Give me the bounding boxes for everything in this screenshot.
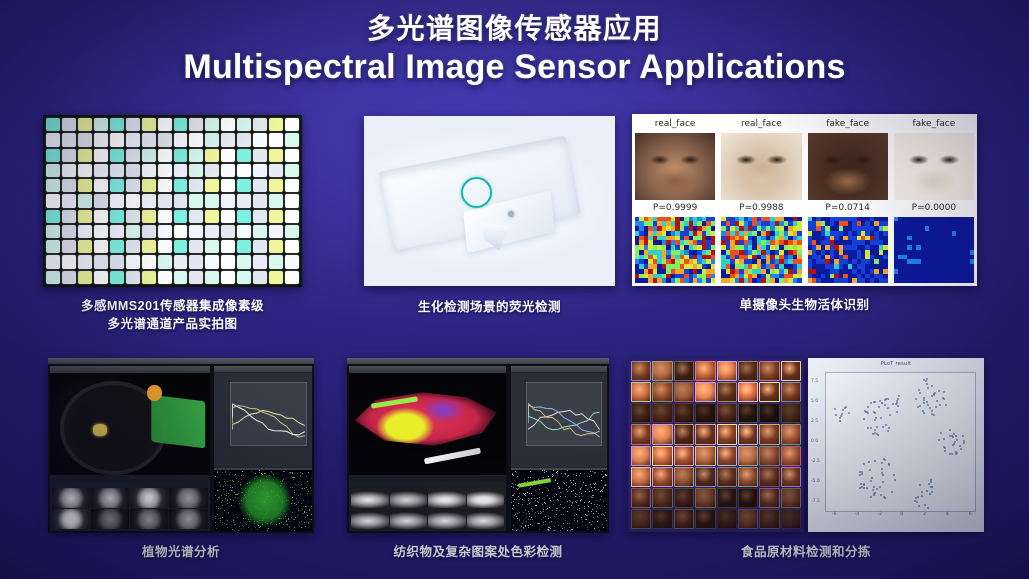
- classification-pixel: [216, 506, 217, 507]
- classification-pixel: [536, 505, 537, 506]
- scatter-point: [876, 488, 878, 490]
- classification-pixel: [255, 527, 256, 528]
- filter-pixel: [62, 194, 76, 207]
- filter-pixel: [46, 149, 60, 162]
- filter-pixel: [174, 255, 188, 268]
- subway-logo: [151, 394, 205, 448]
- classification-pixel: [525, 493, 526, 494]
- classification-pixel: [240, 522, 241, 523]
- filter-pixel: [253, 118, 267, 131]
- classification-pixel: [260, 527, 261, 528]
- scatter-point: [929, 493, 931, 495]
- classification-pixel: [544, 472, 545, 473]
- classification-pixel: [305, 526, 306, 527]
- classification-pixel: [595, 482, 596, 483]
- classification-pixel: [545, 516, 546, 517]
- classification-pixel: [551, 521, 552, 522]
- classification-pixel: [312, 530, 313, 531]
- classification-pixel: [537, 511, 538, 512]
- classification-pixel: [271, 529, 272, 530]
- scatter-point: [926, 490, 928, 492]
- scatter-point: [922, 410, 924, 412]
- classification-pixel: [300, 475, 301, 476]
- filter-pixel: [126, 118, 140, 131]
- filter-pixel: [269, 225, 283, 238]
- scatter-point: [963, 442, 965, 444]
- scatter-point: [870, 402, 872, 404]
- scatter-point: [859, 487, 861, 489]
- filter-pixel: [285, 210, 299, 223]
- plant-software-screenshot: [48, 358, 314, 533]
- classification-pixel: [303, 506, 304, 507]
- filter-pixel: [78, 133, 92, 146]
- classification-pixel: [605, 474, 606, 475]
- classification-pixel: [225, 498, 226, 499]
- food-sample-thumbnail: [759, 424, 779, 444]
- classification-pixel: [582, 521, 583, 522]
- x-axis-tick: 0: [900, 512, 903, 517]
- classification-pixel: [581, 493, 582, 494]
- classification-pixel: [600, 491, 601, 492]
- filter-pixel: [205, 240, 219, 253]
- classification-pixel: [294, 503, 295, 504]
- classification-pixel: [259, 470, 260, 471]
- scatter-point: [927, 404, 929, 406]
- classification-pixel: [223, 489, 224, 490]
- classification-pixel: [539, 523, 540, 524]
- classification-pixel: [590, 484, 591, 485]
- classification-pixel: [296, 485, 297, 486]
- scatter-point: [874, 492, 876, 494]
- classification-pixel: [292, 512, 293, 513]
- food-sample-thumbnail: [781, 509, 801, 529]
- classification-pixel: [579, 475, 580, 476]
- classification-pixel: [576, 514, 577, 515]
- filter-pixel: [126, 133, 140, 146]
- scatter-point: [893, 474, 895, 476]
- scatter-point: [921, 495, 923, 497]
- classification-pixel: [571, 505, 572, 506]
- filter-pixel: [126, 149, 140, 162]
- classification-pixel: [518, 503, 519, 504]
- classification-pixel: [512, 508, 513, 509]
- scatter-point: [839, 417, 841, 419]
- classification-pixel: [539, 497, 540, 498]
- classification-pixel: [301, 527, 302, 528]
- classification-pixel: [224, 479, 225, 480]
- pixel-filter-grid: [43, 115, 302, 287]
- camera-pane: [50, 366, 210, 531]
- food-sample-thumbnail: [738, 446, 758, 466]
- classification-pixel: [294, 492, 295, 493]
- classification-pixel: [306, 522, 307, 523]
- filter-pixel: [62, 271, 76, 284]
- band-thumbnail: [52, 488, 90, 508]
- reference-strip: [424, 447, 481, 464]
- filter-pixel: [253, 210, 267, 223]
- spectrum-curves: [527, 383, 601, 445]
- classification-pixel: [554, 526, 555, 527]
- filter-pixel: [158, 179, 172, 192]
- scatter-point: [936, 400, 938, 402]
- classification-pixel: [553, 500, 554, 501]
- classification-pixel: [554, 488, 555, 489]
- classification-pixel: [584, 473, 585, 474]
- classification-pixel: [517, 513, 518, 514]
- classification-pixel: [519, 512, 520, 513]
- food-sample-thumbnail: [674, 446, 694, 466]
- filter-pixel: [158, 149, 172, 162]
- classification-pixel: [526, 521, 527, 522]
- classification-pixel: [259, 527, 260, 528]
- classification-pixel: [527, 504, 528, 505]
- filter-pixel: [237, 240, 251, 253]
- classification-pixel: [594, 473, 595, 474]
- page-title-english: Multispectral Image Sensor Applications: [0, 50, 1029, 86]
- scatter-point: [881, 402, 883, 404]
- classification-pixel: [296, 494, 297, 495]
- classification-pixel: [525, 509, 526, 510]
- food-sample-thumbnail: [674, 424, 694, 444]
- classification-pixel: [591, 524, 592, 525]
- classification-pixel: [586, 515, 587, 516]
- filter-pixel: [126, 255, 140, 268]
- classification-pixel: [294, 519, 295, 520]
- food-sample-thumbnail: [652, 424, 672, 444]
- classification-pixel: [227, 481, 228, 482]
- scatter-point: [869, 469, 871, 471]
- food-sample-thumbnail: [695, 509, 715, 529]
- filter-pixel: [205, 194, 219, 207]
- filter-pixel: [221, 149, 235, 162]
- caption-line-1: 多感MMS201传感器集成像素级: [43, 297, 302, 315]
- filter-pixel: [174, 210, 188, 223]
- food-sample-thumbnail: [695, 424, 715, 444]
- filter-pixel: [174, 271, 188, 284]
- filter-pixel: [205, 255, 219, 268]
- classification-pixel: [215, 518, 216, 519]
- classification-pixel: [222, 505, 223, 506]
- classification-pixel: [235, 474, 236, 475]
- classification-pixel: [519, 499, 520, 500]
- food-thumbnail-image: [628, 358, 804, 532]
- classification-pixel: [519, 520, 520, 521]
- classification-pixel: [581, 487, 582, 488]
- classification-pixel: [306, 512, 307, 513]
- filter-pixel: [62, 164, 76, 177]
- page-title-chinese: 多光谱图像传感器应用: [0, 14, 1029, 45]
- scatter-point: [881, 468, 883, 470]
- food-sample-thumbnail: [652, 446, 672, 466]
- classification-pixel: [548, 518, 549, 519]
- classification-pixel: [589, 501, 590, 502]
- slide-title-block: 多光谱图像传感器应用 Multispectral Image Sensor Ap…: [0, 14, 1029, 85]
- classification-pixel: [603, 527, 604, 528]
- classification-pixel: [580, 500, 581, 501]
- classification-pixel: [218, 518, 219, 519]
- classification-pixel: [592, 521, 593, 522]
- filter-pixel: [221, 118, 235, 131]
- classification-pixel: [282, 527, 283, 528]
- classification-pixel: [306, 476, 307, 477]
- classification-pixel: [586, 519, 587, 520]
- classification-pixel: [220, 475, 221, 476]
- classification-pixel: [528, 500, 529, 501]
- classification-pixel: [248, 527, 249, 528]
- classification-pixel: [603, 514, 604, 515]
- band-thumbnail: [130, 509, 168, 529]
- scatter-point: [919, 484, 921, 486]
- classification-pixel: [224, 510, 225, 511]
- classification-pixel: [299, 485, 300, 486]
- food-sample-thumbnail: [781, 382, 801, 402]
- classification-pixel: [521, 530, 522, 531]
- classification-pixel: [554, 530, 555, 531]
- classification-pixel: [516, 530, 517, 531]
- classification-pixel: [221, 502, 222, 503]
- filter-pixel: [237, 225, 251, 238]
- food-sample-thumbnail: [631, 488, 651, 508]
- classification-pixel: [548, 490, 549, 491]
- filter-pixel: [142, 118, 156, 131]
- classification-pixel: [606, 475, 607, 476]
- band-thumbnail-grid: [349, 482, 506, 532]
- classification-pixel: [286, 521, 287, 522]
- scatter-point: [943, 391, 945, 393]
- filter-pixel: [189, 149, 203, 162]
- filter-pixel: [110, 164, 124, 177]
- classification-pixel: [304, 522, 305, 523]
- filter-pixel: [285, 271, 299, 284]
- classification-pixel: [226, 491, 227, 492]
- classification-pixel: [576, 496, 577, 497]
- face-thumbnail: [635, 133, 715, 200]
- classification-pixel: [219, 496, 220, 497]
- scatter-point: [896, 402, 898, 404]
- filter-pixel: [46, 225, 60, 238]
- classification-pixel: [251, 529, 252, 530]
- classification-pixel: [605, 512, 606, 513]
- filter-pixel: [269, 118, 283, 131]
- classification-pixel: [227, 520, 228, 521]
- filter-pixel: [237, 118, 251, 131]
- classification-pixel: [556, 510, 557, 511]
- classification-pixel: [542, 470, 543, 471]
- classification-pixel: [571, 482, 572, 483]
- scatter-point: [927, 387, 929, 389]
- classification-pixel: [233, 481, 234, 482]
- classification-pixel: [603, 501, 604, 502]
- classification-pixel: [546, 509, 547, 510]
- classification-pixel: [227, 500, 228, 501]
- classification-pixel: [577, 521, 578, 522]
- scatter-point: [923, 412, 925, 414]
- classification-pixel: [595, 472, 596, 473]
- face-heatmap: [894, 217, 974, 284]
- classification-pixel: [227, 527, 228, 528]
- scatter-point: [923, 399, 925, 401]
- filter-pixel: [62, 210, 76, 223]
- classification-pixel: [602, 471, 603, 472]
- filter-pixel: [158, 271, 172, 284]
- filter-pixel: [237, 271, 251, 284]
- classification-pixel: [578, 505, 579, 506]
- classification-pixel: [529, 488, 530, 489]
- food-sample-thumbnail: [781, 424, 801, 444]
- classification-pixel: [311, 508, 312, 509]
- classification-pixel: [532, 519, 533, 520]
- filter-pixel: [269, 240, 283, 253]
- classification-pixel: [518, 496, 519, 497]
- scatter-point: [931, 410, 933, 412]
- scatter-point: [928, 483, 930, 485]
- classification-pixel: [560, 504, 561, 505]
- classification-pixel: [290, 472, 291, 473]
- classification-pixel: [530, 477, 531, 478]
- filter-pixel: [189, 194, 203, 207]
- band-thumbnail-grid: [50, 482, 210, 532]
- classification-pixel: [606, 485, 607, 486]
- classification-pixel: [572, 503, 573, 504]
- food-sample-thumbnail: [674, 509, 694, 529]
- classification-pixel: [569, 527, 570, 528]
- x-axis-tick: 6: [969, 512, 972, 517]
- food-sample-thumbnail: [652, 382, 672, 402]
- classification-pixel: [217, 499, 218, 500]
- filter-pixel: [46, 271, 60, 284]
- classification-pixel: [528, 498, 529, 499]
- classification-pixel: [586, 485, 587, 486]
- filter-pixel: [46, 240, 60, 253]
- filter-pixel: [237, 164, 251, 177]
- classification-pixel: [575, 483, 576, 484]
- classification-pixel: [303, 513, 304, 514]
- band-thumbnail: [467, 488, 505, 508]
- scatter-point: [835, 414, 837, 416]
- classification-pixel: [567, 530, 568, 531]
- classification-result-view: [214, 470, 312, 531]
- filter-pixel: [46, 179, 60, 192]
- classification-pixel: [311, 506, 312, 507]
- food-sample-thumbnail: [781, 488, 801, 508]
- scatter-point: [873, 411, 875, 413]
- classification-pixel: [301, 484, 302, 485]
- filter-pixel: [126, 271, 140, 284]
- classification-pixel: [524, 494, 525, 495]
- band-thumbnail: [428, 509, 466, 529]
- classification-pixel: [292, 497, 293, 498]
- classification-pixel: [601, 496, 602, 497]
- classification-pixel: [575, 488, 576, 489]
- scatter-point: [918, 505, 920, 507]
- filter-pixel: [189, 133, 203, 146]
- classification-pixel: [596, 500, 597, 501]
- food-sample-thumbnail: [717, 509, 737, 529]
- y-axis-tick: 7.5: [811, 379, 818, 384]
- classification-pixel: [558, 525, 559, 526]
- classification-pixel: [230, 499, 231, 500]
- classification-pixel: [604, 506, 605, 507]
- classification-pixel: [234, 492, 235, 493]
- camera-toolbar: [349, 366, 506, 373]
- classification-pixel: [576, 475, 577, 476]
- scatter-point: [929, 407, 931, 409]
- classification-pixel: [597, 504, 598, 505]
- classification-pixel: [559, 488, 560, 489]
- filter-pixel: [205, 210, 219, 223]
- classification-pixel: [585, 491, 586, 492]
- classification-pixel: [311, 514, 312, 515]
- classification-pixel: [516, 516, 517, 517]
- analysis-pane: [511, 366, 607, 531]
- filter-pixel: [110, 210, 124, 223]
- classification-pixel: [272, 473, 273, 474]
- caption-line-2: 多光谱通道产品实拍图: [43, 315, 302, 333]
- classification-pixel: [215, 476, 216, 477]
- classification-pixel: [563, 523, 564, 524]
- filter-pixel: [269, 210, 283, 223]
- filter-pixel: [94, 210, 108, 223]
- filter-pixel: [221, 225, 235, 238]
- classification-pixel: [563, 514, 564, 515]
- scatter-point: [882, 481, 884, 483]
- classification-pixel: [553, 470, 554, 471]
- classification-pixel: [557, 475, 558, 476]
- classification-pixel: [592, 497, 593, 498]
- scatter-point: [916, 501, 918, 503]
- classification-pixel: [300, 494, 301, 495]
- classification-pixel: [570, 530, 571, 531]
- food-sample-thumbnail: [717, 446, 737, 466]
- y-axis-tick: -2.5: [811, 459, 820, 464]
- classification-pixel: [565, 496, 566, 497]
- classification-pixel: [581, 517, 582, 518]
- classification-pixel: [216, 528, 217, 529]
- classification-pixel: [564, 507, 565, 508]
- slide-canvas: 多光谱图像传感器应用 Multispectral Image Sensor Ap…: [0, 0, 1029, 579]
- panel-fluorescence: 生化检测场景的荧光检测: [364, 116, 615, 286]
- scatter-point: [924, 504, 926, 506]
- filter-pixel: [285, 149, 299, 162]
- classification-pixel: [573, 484, 574, 485]
- face-heatmap: [808, 217, 888, 284]
- classification-pixel: [516, 472, 517, 473]
- classification-pixel: [220, 522, 221, 523]
- filter-pixel: [142, 194, 156, 207]
- food-sample-thumbnail: [781, 403, 801, 423]
- scatter-point: [943, 398, 945, 400]
- classification-pixel: [576, 502, 577, 503]
- classification-pixel: [308, 523, 309, 524]
- filter-pixel: [142, 271, 156, 284]
- face-thumbnail: [894, 133, 974, 200]
- classification-pixel: [537, 501, 538, 502]
- classification-pixel: [554, 502, 555, 503]
- classification-pixel: [598, 513, 599, 514]
- filter-pixel: [221, 194, 235, 207]
- scatter-point: [931, 491, 933, 493]
- scatter-point: [841, 413, 843, 415]
- classification-pixel: [567, 491, 568, 492]
- filter-pixel: [62, 255, 76, 268]
- classification-pixel: [535, 512, 536, 513]
- classification-pixel: [514, 480, 515, 481]
- scatter-point: [873, 486, 875, 488]
- classification-pixel: [519, 493, 520, 494]
- classification-pixel: [246, 524, 247, 525]
- classification-pixel: [515, 484, 516, 485]
- classification-pixel: [552, 510, 553, 511]
